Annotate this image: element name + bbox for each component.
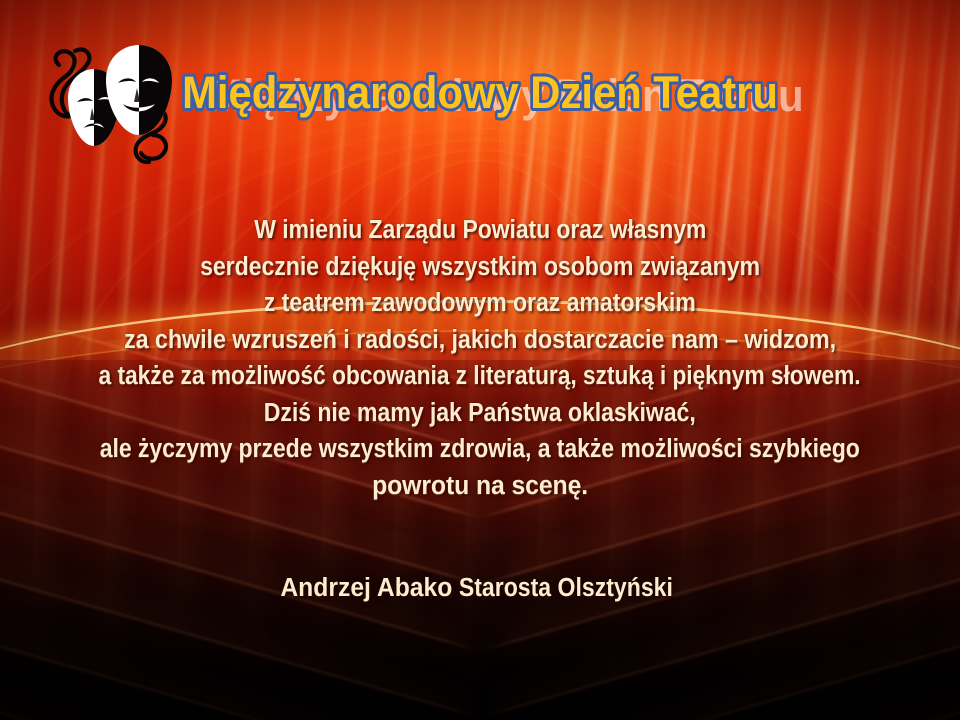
message-line: serdecznie dziękuję wszystkim osobom zwi… xyxy=(200,249,760,286)
message-line: W imieniu Zarządu Powiatu oraz własnym xyxy=(254,212,706,249)
message-line: Dziś nie mamy jak Państwa oklaskiwać, xyxy=(264,395,696,432)
message-body: W imieniu Zarządu Powiatu oraz własnym s… xyxy=(22,212,939,504)
page-title: Międzynarodowy Dzień Teatru Międzynarodo… xyxy=(0,62,960,124)
theatre-day-poster: Międzynarodowy Dzień Teatru Międzynarodo… xyxy=(0,0,960,720)
svg-text:Międzynarodowy Dzień Teatru: Międzynarodowy Dzień Teatru xyxy=(182,69,778,119)
message-line: ale życzymy przede wszystkim zdrowia, a … xyxy=(100,431,860,468)
message-line: z teatrem zawodowym oraz amatorskim xyxy=(264,285,696,322)
signature-role: Starosta Olsztyński xyxy=(459,570,673,607)
signature-block: Andrzej Abako Starosta Olsztyński xyxy=(34,570,927,607)
signature-name: Andrzej Abako xyxy=(281,570,453,607)
message-line: powrotu na scenę. xyxy=(372,468,588,505)
message-line: a także za możliwość obcowania z literat… xyxy=(99,358,861,395)
message-line: za chwile wzruszeń i radości, jakich dos… xyxy=(124,322,836,359)
